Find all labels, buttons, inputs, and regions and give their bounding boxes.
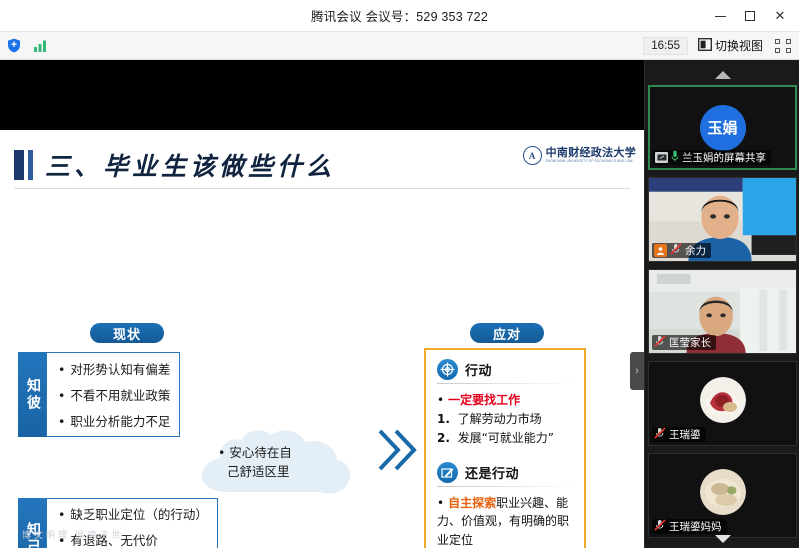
mic-icon <box>671 149 679 167</box>
participant-name: 匡莹家长 <box>669 335 711 350</box>
university-logo: A 中南财经政法大学 ZHONGNAN UNIVERSITY OF ECONOM… <box>523 146 636 165</box>
participant-label: 兰玉娟的屏幕共享 <box>653 150 771 165</box>
participant-tile[interactable]: 玉娟 兰玉娟的屏幕共享 <box>648 85 797 170</box>
host-icon <box>654 244 667 257</box>
close-icon: ✕ <box>775 10 786 23</box>
mic-muted-icon <box>654 334 666 352</box>
participant-label: 匡莹家长 <box>652 335 716 350</box>
university-name-block: 中南财经政法大学 ZHONGNAN UNIVERSITY OF ECONOMIC… <box>546 148 636 163</box>
toolbar-right-controls: 16:55 切换视图 <box>643 35 799 56</box>
window-titlebar: 腾讯会议 会议号：529 353 722 ✕ <box>0 0 799 32</box>
triangle-up-icon <box>715 71 731 79</box>
switch-view-label: 切换视图 <box>715 37 763 54</box>
response-section-1-list: 一定要找工作 1. 了解劳动力市场 2. 发展“可就业能力” <box>437 391 575 449</box>
avatar <box>700 377 746 423</box>
collapse-panel-handle[interactable]: › <box>630 352 644 390</box>
slide-watermark: 博文明理 厚德济世 <box>22 528 123 541</box>
response-section-2-body: 自主探索职业兴趣、能力、价值观，有明确的职业定位 <box>437 494 575 548</box>
response-section-1-header: 行动 <box>437 359 575 380</box>
list-item: 对形势认知有偏差 <box>58 359 170 378</box>
highlight-text: 自主探索 <box>448 496 496 510</box>
avatar: 玉娟 <box>700 105 746 151</box>
pill-current-status: 现状 <box>90 323 164 343</box>
box-response: 行动 一定要找工作 1. 了解劳动力市场 2. 发展“可就业能力” <box>424 348 586 548</box>
mic-muted-icon <box>670 242 682 260</box>
participant-label: 王瑞鎏 <box>652 427 706 442</box>
highlight-text: 一定要找工作 <box>448 393 520 407</box>
pill-response: 应对 <box>470 323 544 343</box>
switch-view-button[interactable]: 切换视图 <box>694 35 767 56</box>
signal-bars-icon[interactable] <box>29 35 51 57</box>
meeting-window: 腾讯会议 会议号：529 353 722 ✕ 16:55 切换视图 <box>0 0 799 548</box>
app-toolbar: 16:55 切换视图 <box>0 32 799 60</box>
list-item: 1. 了解劳动力市场 <box>437 410 575 429</box>
section-underline <box>437 486 575 487</box>
toolbar-left-icons <box>0 35 51 57</box>
chevron-right-icon: › <box>635 365 639 377</box>
layout-icon <box>698 38 712 54</box>
cloud-line-1: 安心待在自 <box>229 445 292 460</box>
participant-tile[interactable]: 王瑞鎏 <box>648 361 797 446</box>
response-section-2-header: 还是行动 <box>437 462 575 483</box>
slide-title: 三、毕业生该做些什么 <box>45 147 335 183</box>
cloud-text: 安心待在自 己舒适区里 <box>218 444 338 482</box>
list-item: 缺乏职业定位（的行动） <box>58 504 208 523</box>
university-name-cn: 中南财经政法大学 <box>546 148 636 160</box>
participant-tile[interactable]: 匡莹家长 <box>648 269 797 354</box>
window-controls: ✕ <box>705 0 795 32</box>
box-know-others-items: 对形势认知有偏差 不看不用就业政策 职业分析能力不足 <box>46 352 180 437</box>
university-seal-icon: A <box>523 146 542 165</box>
title-divider <box>14 188 630 189</box>
minimize-icon <box>715 16 726 17</box>
fullscreen-icon[interactable] <box>773 36 793 56</box>
close-button[interactable]: ✕ <box>765 1 795 31</box>
participant-tile[interactable]: 余力 <box>648 177 797 262</box>
avatar-photo-icon <box>700 469 746 515</box>
title-accent-bar-2 <box>28 150 33 180</box>
participant-tile[interactable]: 王瑞鎏妈妈 <box>648 453 797 538</box>
participant-label: 余力 <box>652 243 711 258</box>
mic-muted-icon <box>654 426 666 444</box>
comfort-zone-cloud: 安心待在自 己舒适区里 <box>196 426 354 502</box>
list-item: 职业分析能力不足 <box>58 411 170 430</box>
section-underline <box>437 383 575 384</box>
response-section-2-title: 还是行动 <box>465 463 519 482</box>
university-name-en: ZHONGNAN UNIVERSITY OF ECONOMICS AND LAW <box>546 160 636 163</box>
maximize-button[interactable] <box>735 1 765 31</box>
list-item: 不看不用就业政策 <box>58 385 170 404</box>
participant-rail: 玉娟 兰玉娟的屏幕共享 <box>644 60 799 548</box>
list-item: 2. 发展“可就业能力” <box>437 429 575 448</box>
pen-edit-icon <box>437 462 458 483</box>
response-section-1-title: 行动 <box>465 360 492 379</box>
clock: 16:55 <box>643 37 688 55</box>
target-icon <box>437 359 458 380</box>
screen-share-icon <box>655 152 668 163</box>
maximize-icon <box>745 11 755 21</box>
rail-scroll-down-button[interactable] <box>645 532 799 546</box>
participant-name: 兰玉娟的屏幕共享 <box>682 150 766 165</box>
title-accent-bar <box>14 150 24 180</box>
participant-name: 余力 <box>685 243 706 258</box>
shield-icon[interactable] <box>3 35 25 57</box>
participant-name: 王瑞鎏 <box>669 427 701 442</box>
avatar <box>700 469 746 515</box>
minimize-button[interactable] <box>705 1 735 31</box>
box-know-others: 知彼 对形势认知有偏差 不看不用就业政策 职业分析能力不足 <box>18 352 214 437</box>
triangle-down-icon <box>715 535 731 543</box>
list-item-highlight: 一定要找工作 <box>437 391 575 410</box>
window-title: 腾讯会议 会议号：529 353 722 <box>0 6 799 25</box>
presentation-slide: 三、毕业生该做些什么 A 中南财经政法大学 ZHONGNAN UNIVERSIT… <box>0 130 644 548</box>
rail-scroll-up-button[interactable] <box>645 68 799 82</box>
double-chevron-right-icon <box>376 425 418 475</box>
cloud-line-2: 己舒适区里 <box>227 464 290 479</box>
shared-screen-stage: 三、毕业生该做些什么 A 中南财经政法大学 ZHONGNAN UNIVERSIT… <box>0 60 644 548</box>
avatar-photo-icon <box>700 377 746 423</box>
